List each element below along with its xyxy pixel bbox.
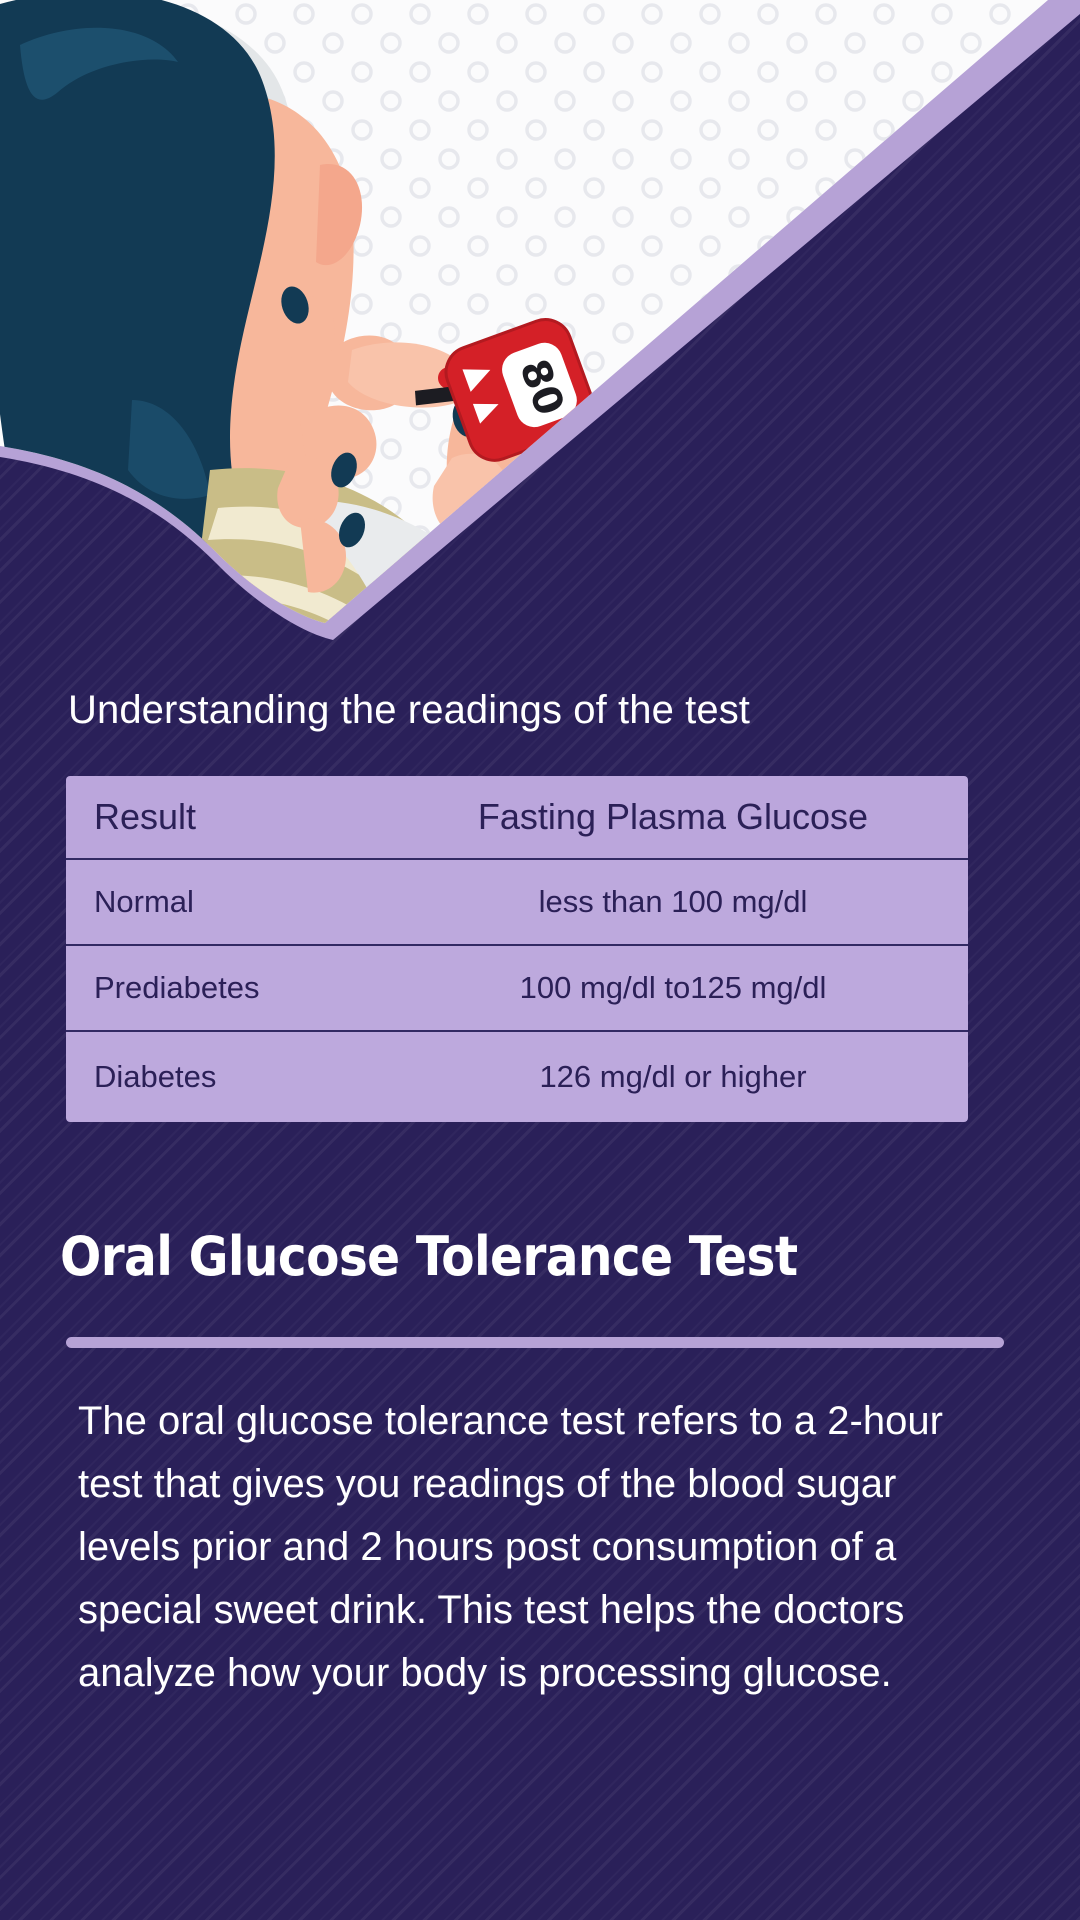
table-cell-value-prediabetes: 100 mg/dl to125 mg/dl: [396, 970, 968, 1006]
table-cell-result-prediabetes: Prediabetes: [66, 970, 396, 1006]
table-cell-value-diabetes: 126 mg/dl or higher: [396, 1059, 968, 1095]
hero-white-panel: 80: [0, 0, 1080, 640]
table-row: Diabetes 126 mg/dl or higher: [66, 1030, 968, 1122]
section-body-text: The oral glucose tolerance test refers t…: [78, 1390, 1008, 1705]
heading-divider: [66, 1337, 1004, 1348]
glucose-readings-table: Result Fasting Plasma Glucose Normal les…: [66, 776, 968, 1122]
hero-illustration: 80: [0, 0, 1080, 640]
table-cell-result-normal: Normal: [66, 884, 396, 920]
table-header-row: Result Fasting Plasma Glucose: [66, 776, 968, 858]
table-cell-value-normal: less than 100 mg/dl: [396, 884, 968, 920]
table-header-result: Result: [66, 796, 396, 838]
table-row: Normal less than 100 mg/dl: [66, 858, 968, 944]
section-heading-oral-glucose-tolerance-test: Oral Glucose Tolerance Test: [60, 1225, 797, 1288]
section-subtitle: Understanding the readings of the test: [68, 688, 1008, 733]
table-row: Prediabetes 100 mg/dl to125 mg/dl: [66, 944, 968, 1030]
table-cell-result-diabetes: Diabetes: [66, 1059, 396, 1095]
infographic-page: 80 Understanding the readings of the tes…: [0, 0, 1080, 1920]
table-header-fasting-plasma-glucose: Fasting Plasma Glucose: [396, 796, 968, 838]
